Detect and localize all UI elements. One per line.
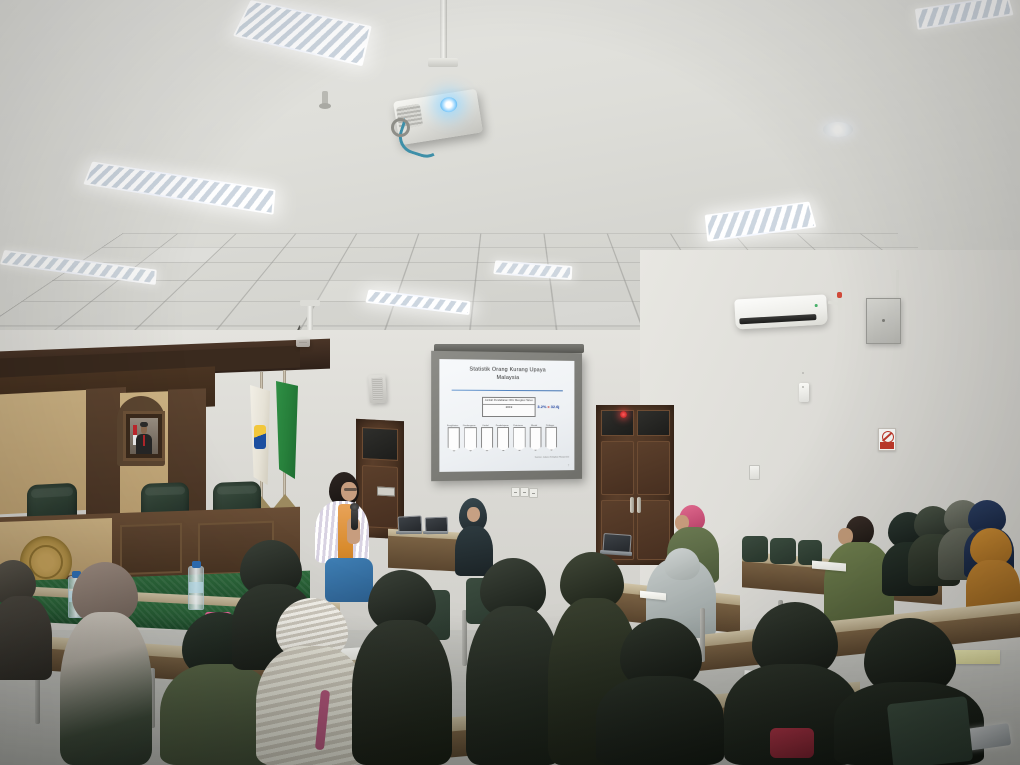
fluorescent-light-1	[233, 0, 372, 66]
slide-footer: Sumber: Jabatan Kebajikan Masyarakat	[535, 456, 569, 458]
wall-speaker	[368, 375, 386, 404]
ac-valve-cap	[837, 292, 842, 298]
door-room-sign	[377, 487, 395, 497]
ceiling-vent	[823, 122, 853, 137]
projection-screen: Statistik Orang Kurang Upaya Malaysia Ju…	[431, 351, 582, 481]
electrical-distribution-panel[interactable]	[866, 298, 901, 344]
slide-page-number: 7	[568, 464, 569, 467]
slide-equation-dark: 32.6j	[551, 405, 560, 410]
wall-screw-dot	[802, 372, 804, 374]
attendee-dark-hijab-f2	[352, 570, 452, 765]
attendee-red-garment	[770, 728, 814, 758]
ac-pipe-vertical	[838, 296, 842, 310]
light-switch-plate[interactable]	[749, 465, 760, 480]
laptop-1-base	[396, 531, 422, 534]
ceiling-speaker	[296, 338, 310, 347]
projection-screen-surface: Statistik Orang Kurang Upaya Malaysia Ju…	[439, 359, 574, 472]
attendee-grey-hijab-cloth	[664, 548, 700, 580]
slide-category-label-2: Pendengaran	[463, 425, 475, 428]
slide-category-label-3: Fizikal	[479, 425, 491, 428]
projector-cable-hook	[391, 118, 410, 137]
portrait-songkok	[140, 422, 148, 427]
wall-outlet-1[interactable]	[511, 487, 520, 497]
slide-category-shape-7	[545, 427, 557, 451]
attendee-left-edge	[0, 560, 56, 680]
operator-face	[467, 507, 480, 522]
slide-accent-rule	[452, 390, 563, 392]
slide-title-line-2: Malaysia	[497, 374, 520, 380]
fluorescent-light-2	[83, 162, 275, 215]
ac-remote-holder[interactable]	[799, 383, 809, 402]
presentation-slide: Statistik Orang Kurang Upaya Malaysia Ju…	[439, 359, 574, 472]
water-bottle-2[interactable]	[188, 566, 204, 610]
slide-category-shape-1	[448, 427, 461, 452]
projector-mount-pole	[440, 0, 447, 60]
empty-chair-2[interactable]	[770, 538, 796, 564]
wall-outlet-2[interactable]	[520, 487, 529, 497]
chair-back-foreground[interactable]	[887, 696, 973, 765]
slide-equation-blue: 3.2%	[537, 404, 546, 409]
slide-category-shape-4	[497, 427, 509, 451]
ac-indicator-light	[815, 304, 818, 307]
portrait-tie	[143, 435, 145, 446]
slide-equation-red: x	[547, 405, 549, 410]
wall-outlet-3[interactable]	[529, 488, 538, 498]
slide-category-shape-6	[529, 427, 541, 451]
slide-title-line-1: Statistik Orang Kurang Upaya	[469, 366, 545, 373]
attendee-front-center	[596, 618, 724, 765]
official-portrait-image	[130, 418, 158, 454]
slide-category-label-1: Penglihatan	[446, 425, 458, 428]
empty-chair-1[interactable]	[742, 536, 768, 562]
slide-title: Statistik Orang Kurang Upaya Malaysia	[448, 365, 567, 382]
slide-category-shape-2	[464, 427, 476, 451]
seminar-room-photo: Statistik Orang Kurang Upaya Malaysia Ju…	[0, 0, 1020, 765]
slide-category-shape-3	[481, 427, 493, 451]
empty-projector-mount-plate	[300, 300, 320, 306]
ac-vent-louvre	[739, 314, 816, 324]
slide-stat-box-value: 2019	[483, 405, 534, 410]
slide-equation: 3.2% x 32.6j	[537, 404, 571, 410]
projector-lens	[439, 96, 458, 113]
slide-stat-box: Jumlah Pendaftaran OKU Mengikut Tahun 20…	[482, 397, 535, 418]
slide-category-label-6: Mental	[528, 425, 540, 428]
handheld-microphone[interactable]	[351, 508, 358, 530]
presenter-glasses	[344, 488, 357, 491]
attendee-taupe-body	[60, 612, 152, 765]
attendee-taupe-hijab	[60, 562, 152, 765]
split-air-conditioner	[734, 294, 828, 329]
fire-sprinkler-head	[322, 91, 328, 105]
slide-category-label-4: Pembelajaran	[496, 425, 508, 428]
green-flag	[276, 381, 298, 479]
slide-category-label-7: Pelbagai	[544, 425, 556, 428]
presenter-face	[341, 482, 357, 501]
no-smoking-sign	[878, 428, 896, 451]
door-red-status-light	[620, 411, 627, 418]
slide-category-label-5: Pertuturan	[512, 425, 524, 428]
fluorescent-light-7	[915, 0, 1014, 30]
laptop-2-base	[423, 531, 448, 534]
slide-category-shape-5	[513, 427, 525, 451]
official-portrait-frame	[123, 411, 165, 461]
projector-mount-arm	[428, 58, 458, 67]
